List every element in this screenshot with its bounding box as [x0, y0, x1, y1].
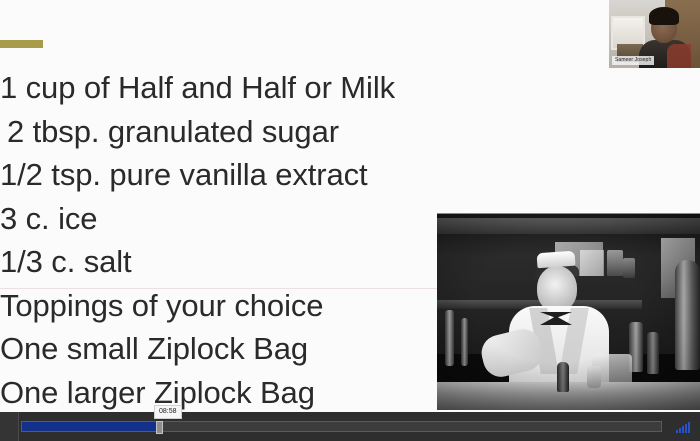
list-item: One larger Ziplock Bag: [0, 371, 470, 415]
list-item: 3 c. ice: [0, 197, 470, 241]
slide-surface: 1 cup of Half and Half or Milk 2 tbsp. g…: [0, 0, 700, 441]
list-item: 1/2 tsp. pure vanilla extract: [0, 153, 470, 197]
progress-track[interactable]: [21, 421, 662, 432]
clip-vignette: [437, 214, 700, 410]
gold-accent-bar: [0, 40, 43, 48]
progress-bar-area[interactable]: 08:58: [19, 412, 666, 441]
slide-divider: [0, 288, 437, 289]
webcam-person-hair: [649, 7, 679, 25]
progress-scrubber-handle[interactable]: [156, 421, 163, 434]
webcam-person-shirt: [667, 44, 691, 68]
video-control-bar[interactable]: 08:58: [0, 412, 700, 441]
progress-fill: [22, 422, 159, 431]
volume-area[interactable]: [666, 412, 700, 441]
presentation-screenshot: 1 cup of Half and Half or Milk 2 tbsp. g…: [0, 0, 700, 441]
webcam-participant-name: Sameer Joseph: [612, 56, 654, 65]
signal-bars-icon[interactable]: [676, 422, 690, 433]
list-item: One small Ziplock Bag: [0, 327, 470, 371]
list-item: Toppings of your choice: [0, 284, 470, 328]
webcam-overlay[interactable]: Sameer Joseph: [609, 0, 700, 68]
list-item: 1/3 c. salt: [0, 240, 470, 284]
list-item: 2 tbsp. granulated sugar: [0, 110, 470, 154]
list-item: 1 cup of Half and Half or Milk: [0, 66, 470, 110]
ingredient-list: 1 cup of Half and Half or Milk 2 tbsp. g…: [0, 66, 470, 414]
time-tooltip: 08:58: [154, 405, 182, 419]
play-pause-button[interactable]: [0, 412, 19, 441]
embedded-video-clip[interactable]: [437, 213, 700, 410]
